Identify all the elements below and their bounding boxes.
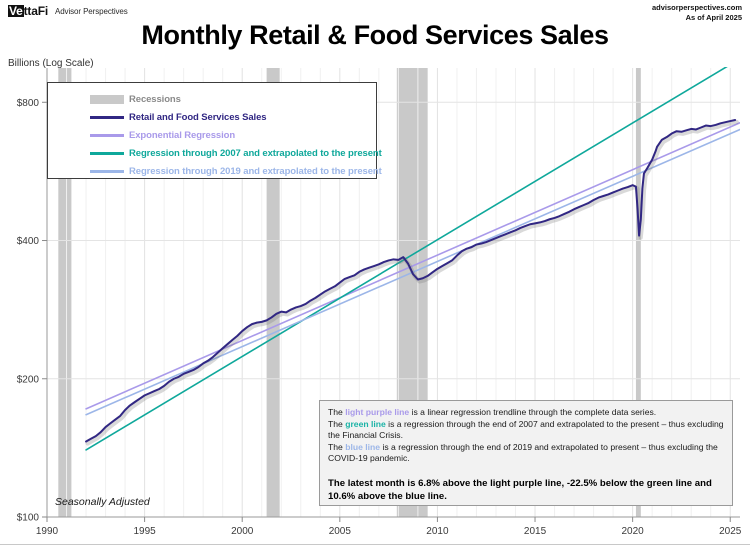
ann1-keyword: light purple line: [345, 407, 409, 417]
x-tick-label: 1990: [36, 526, 59, 537]
y-tick-label: $400: [17, 236, 40, 247]
legend-item-0[interactable]: Recessions: [48, 90, 376, 108]
x-tick-label: 2025: [719, 526, 742, 537]
legend-item-2[interactable]: Exponential Regression: [48, 126, 376, 144]
legend-swatch-icon: [90, 152, 124, 155]
legend-item-1[interactable]: Retail and Food Services Sales: [48, 108, 376, 126]
ann3-prefix: The: [328, 442, 345, 452]
annotation-summary: The latest month is 6.8% above the light…: [328, 465, 724, 503]
chart-page: VettaFi Advisor Perspectives advisorpers…: [0, 0, 750, 545]
legend-swatch-icon: [90, 116, 124, 119]
x-tick-label: 2000: [231, 526, 254, 537]
legend-label: Regression through 2007 and extrapolated…: [129, 148, 382, 159]
y-tick-label: $200: [17, 374, 40, 385]
annotation-box: The light purple line is a linear regres…: [319, 400, 733, 506]
legend-swatch-icon: [90, 134, 124, 137]
annotation-line-3: The blue line is a regression through th…: [328, 442, 724, 465]
ann1-suffix: is a linear regression trendline through…: [409, 407, 656, 417]
legend-item-3[interactable]: Regression through 2007 and extrapolated…: [48, 144, 376, 162]
legend-label: Retail and Food Services Sales: [129, 112, 266, 123]
ann2-suffix: is a regression through the end of 2007 …: [328, 419, 724, 441]
y-tick-label: $800: [17, 98, 40, 109]
x-tick-label: 1995: [133, 526, 156, 537]
annotation-line-2: The green line is a regression through t…: [328, 419, 724, 442]
seasonal-adjustment-note: Seasonally Adjusted: [55, 496, 150, 508]
annotation-line-1: The light purple line is a linear regres…: [328, 407, 724, 419]
legend-label: Exponential Regression: [129, 130, 235, 141]
x-tick-label: 2020: [622, 526, 645, 537]
legend-label: Recessions: [129, 94, 181, 105]
legend-swatch-icon: [90, 170, 124, 173]
ann3-suffix: is a regression through the end of 2019 …: [328, 442, 718, 464]
legend-swatch-icon: [90, 95, 124, 104]
ann2-keyword: green line: [345, 419, 386, 429]
ann3-keyword: blue line: [345, 442, 380, 452]
y-tick-label: $100: [17, 513, 40, 524]
ann1-prefix: The: [328, 407, 345, 417]
chart-legend: RecessionsRetail and Food Services Sales…: [47, 82, 377, 179]
legend-item-4[interactable]: Regression through 2019 and extrapolated…: [48, 162, 376, 180]
legend-label: Regression through 2019 and extrapolated…: [129, 166, 382, 177]
x-tick-label: 2005: [329, 526, 352, 537]
x-tick-label: 2015: [524, 526, 547, 537]
ann2-prefix: The: [328, 419, 345, 429]
x-tick-label: 2010: [426, 526, 449, 537]
